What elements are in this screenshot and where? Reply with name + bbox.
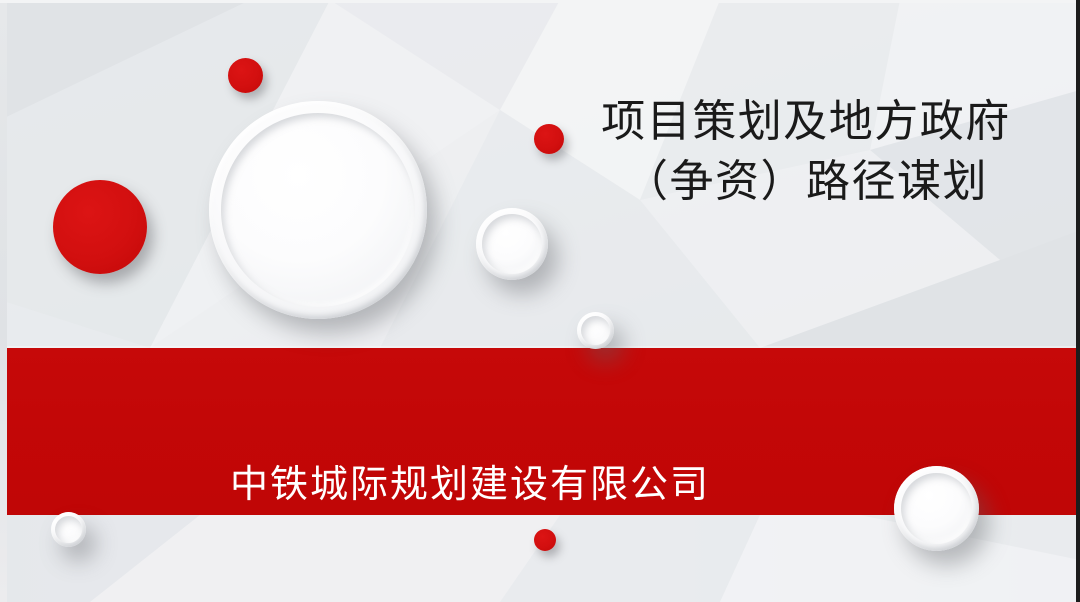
decorative-dot-bottom xyxy=(534,529,556,551)
decorative-dot-left xyxy=(53,180,147,274)
company-name: 中铁城际规划建设有限公司 xyxy=(0,462,940,508)
title-slide: 项目策划及地方政府 （争资）路径谋划 中铁城际规划建设有限公司 xyxy=(0,0,1080,602)
ring-inner xyxy=(581,316,610,345)
ring-inner xyxy=(221,113,415,307)
slide-title: 项目策划及地方政府 （争资）路径谋划 xyxy=(556,92,1056,212)
decorative-ring-medium xyxy=(476,208,548,280)
slide-edge-top xyxy=(0,0,1080,3)
slide-title-line-2: （争资）路径谋划 xyxy=(556,152,1056,212)
decorative-ring-bottom-left xyxy=(51,512,86,547)
decorative-ring-small xyxy=(577,312,614,349)
slide-edge-left xyxy=(0,0,7,602)
ring-inner xyxy=(55,516,82,543)
decorative-dot-top xyxy=(228,58,263,93)
ring-inner xyxy=(482,214,542,274)
decorative-ring-large xyxy=(209,101,427,319)
slide-edge-right xyxy=(1076,0,1080,602)
slide-title-line-1: 项目策划及地方政府 xyxy=(556,92,1056,152)
